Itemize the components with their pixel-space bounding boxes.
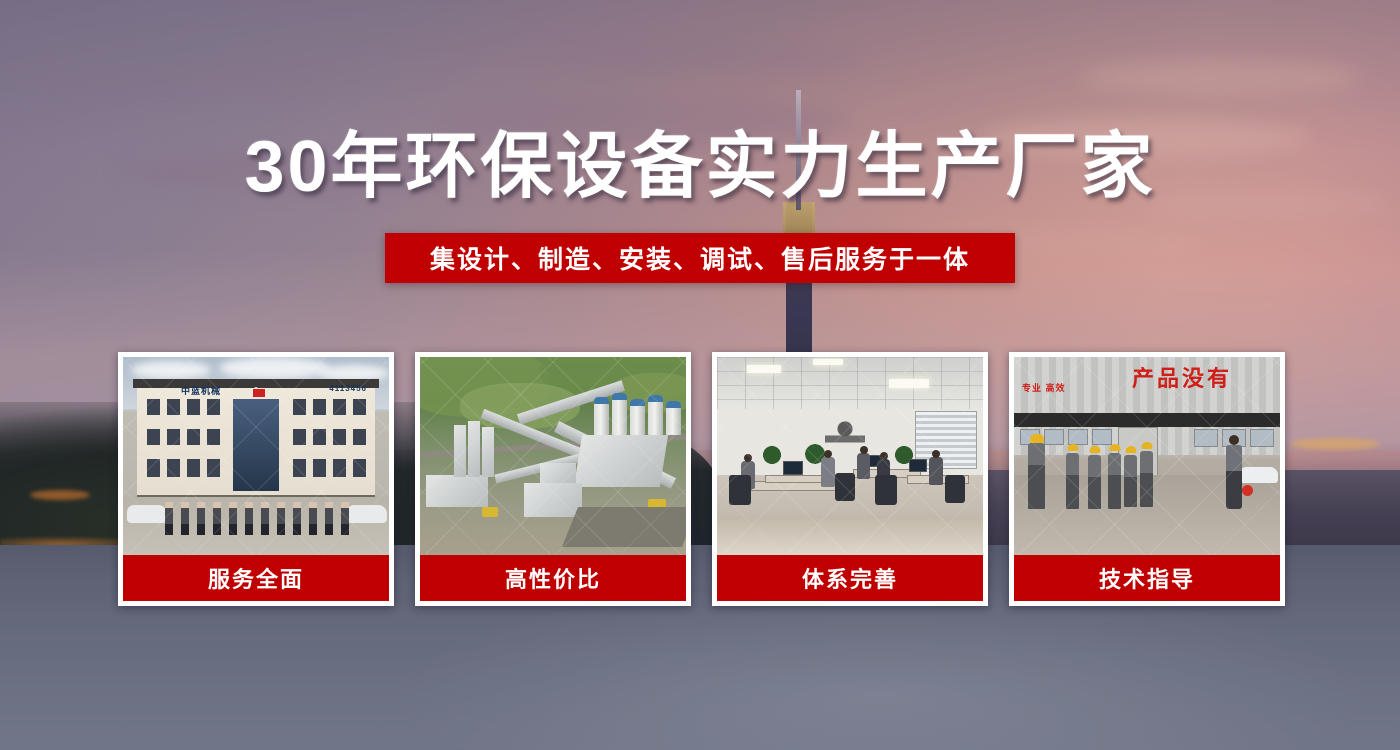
building-phone-text: 4113456 xyxy=(329,384,367,393)
factory-wall-slogan-small: 专业 高效 xyxy=(1022,381,1066,394)
office-wall-logo xyxy=(825,417,865,451)
subtitle-banner: 集设计、制造、安装、调试、售后服务于一体 xyxy=(385,233,1015,283)
feature-card-list: 中蓝机械 4113456 xyxy=(118,352,1285,606)
card-photo-headquarters: 中蓝机械 4113456 xyxy=(123,357,389,555)
card-caption: 体系完善 xyxy=(717,555,983,601)
feature-card-training[interactable]: 产品没有 专业 高效 xyxy=(1009,352,1285,606)
feature-card-service[interactable]: 中蓝机械 4113456 xyxy=(118,352,394,606)
card-photo-workers-yard: 产品没有 专业 高效 xyxy=(1014,357,1280,555)
card-caption: 技术指导 xyxy=(1014,555,1280,601)
feature-card-system[interactable]: 体系完善 xyxy=(712,352,988,606)
page-title: 30年环保设备实力生产厂家 xyxy=(0,131,1400,203)
feature-card-value[interactable]: 高性价比 xyxy=(415,352,691,606)
card-caption: 服务全面 xyxy=(123,555,389,601)
card-caption: 高性价比 xyxy=(420,555,686,601)
card-photo-office-interior xyxy=(717,357,983,555)
building-sign-text: 中蓝机械 xyxy=(181,384,221,397)
factory-wall-slogan: 产品没有 xyxy=(1132,361,1232,393)
card-photo-plant-aerial xyxy=(420,357,686,555)
